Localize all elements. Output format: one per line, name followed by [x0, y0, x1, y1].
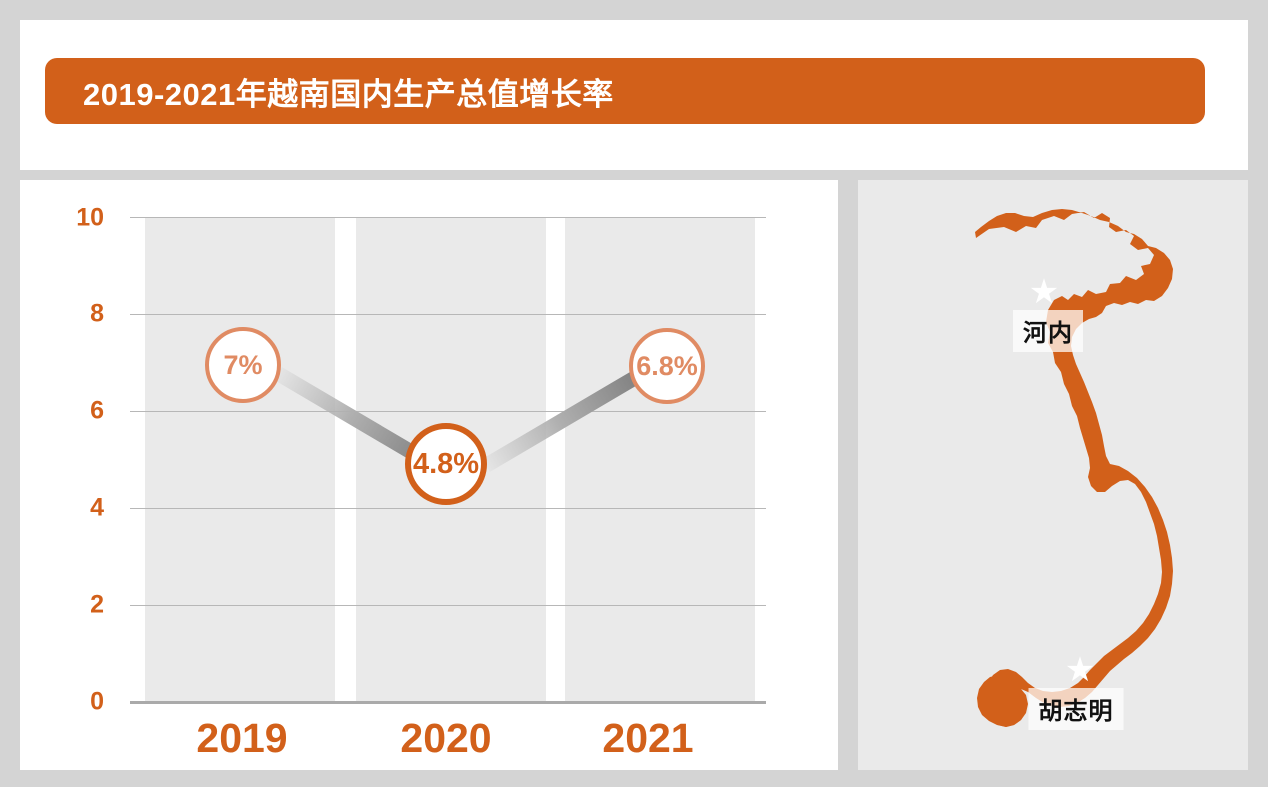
x-tick-label-2021: 2021: [602, 715, 693, 762]
data-point-label-2019: 7%: [223, 352, 262, 379]
data-point-2021[interactable]: 6.8%: [629, 328, 705, 404]
chart-panel: 10 8 6 4 2 0 7% 6.8% 4.8% 2019 2020 2021: [20, 180, 838, 770]
gridline-2: [130, 605, 766, 606]
y-tick-label-10: 10: [50, 204, 104, 233]
column-band-2021: [565, 218, 755, 703]
vietnam-map-shape: [858, 180, 1248, 770]
x-tick-label-2019: 2019: [196, 715, 287, 762]
y-tick-label-6: 6: [50, 397, 104, 426]
page-title: 2019-2021年越南国内生产总值增长率: [45, 69, 614, 114]
x-tick-label-2020: 2020: [400, 715, 491, 762]
line-chart: 10 8 6 4 2 0 7% 6.8% 4.8% 2019 2020 2021: [20, 180, 838, 770]
data-point-label-2021: 6.8%: [636, 353, 698, 380]
gridline-6: [130, 411, 766, 412]
y-tick-label-8: 8: [50, 300, 104, 329]
map-panel: ★ 河内 ★ 胡志明: [858, 180, 1248, 770]
column-band-2019: [145, 218, 335, 703]
gridline-10: [130, 217, 766, 218]
city-label-ho-chi-minh[interactable]: 胡志明: [1029, 688, 1124, 730]
title-banner: 2019-2021年越南国内生产总值增长率: [45, 58, 1205, 124]
data-point-2019[interactable]: 7%: [205, 327, 281, 403]
header-card: 2019-2021年越南国内生产总值增长率: [20, 20, 1248, 170]
data-point-label-2020: 4.8%: [413, 450, 479, 479]
city-label-hanoi[interactable]: 河内: [1013, 310, 1083, 352]
y-tick-label-0: 0: [50, 688, 104, 717]
y-tick-label-4: 4: [50, 494, 104, 523]
gridline-4: [130, 508, 766, 509]
data-point-2020[interactable]: 4.8%: [405, 423, 487, 505]
gridline-0: [130, 701, 766, 704]
y-tick-label-2: 2: [50, 591, 104, 620]
gridline-8: [130, 314, 766, 315]
